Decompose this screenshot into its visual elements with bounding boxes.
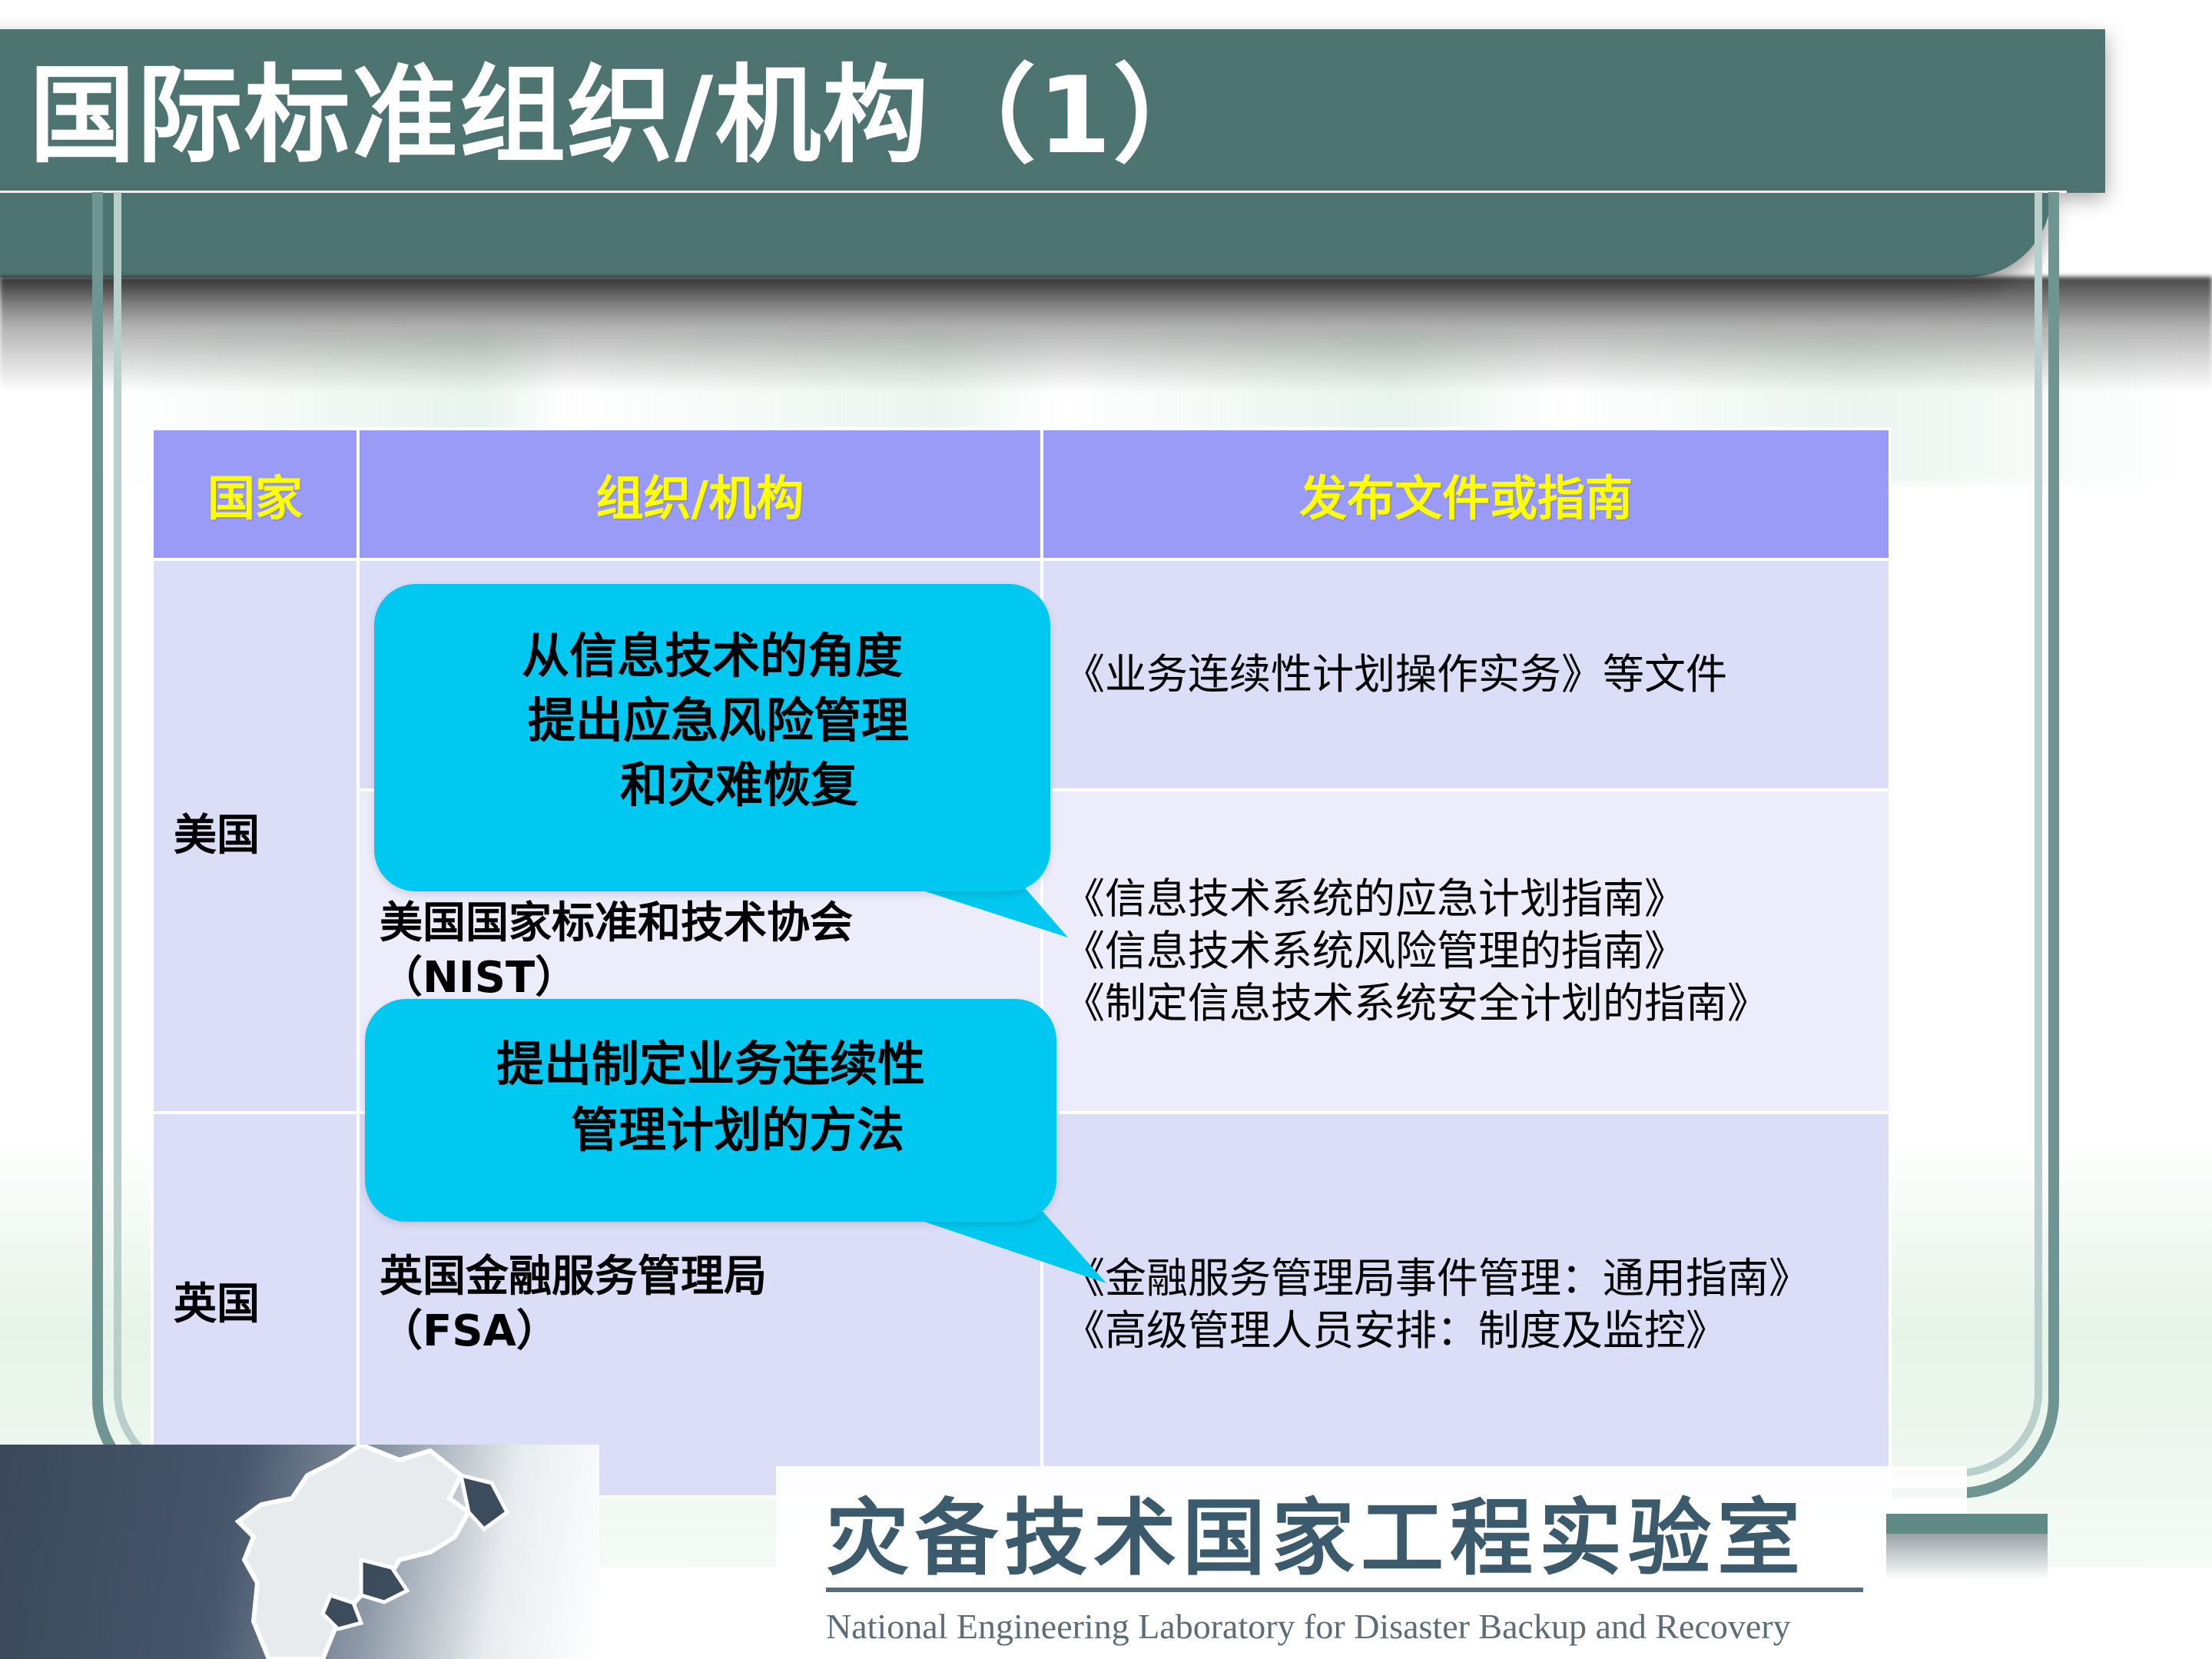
east-asia-map-graphic	[0, 1445, 599, 1659]
table-header-row: 国家 组织/机构 发布文件或指南	[152, 429, 1890, 559]
callout-line: 从信息技术的角度	[374, 624, 1050, 688]
footer-logo-rule	[826, 1588, 1863, 1592]
callout-nist[interactable]: 从信息技术的角度 提出应急风险管理 和灾难恢复	[374, 584, 1050, 891]
footer-logo-cn: 灾备技术国家工程实验室	[826, 1472, 1902, 1591]
callout-line: 提出应急风险管理	[374, 688, 1050, 753]
page-title: 国际标准组织/机构（1）	[29, 45, 1873, 187]
callout-line: 和灾难恢复	[374, 753, 1050, 818]
organization-line-2: （FSA）	[380, 1305, 1020, 1359]
document-line: 《金融服务管理局事件管理：通用指南》	[1063, 1253, 1869, 1305]
organization-line-1: 美国国家标准和技术协会	[380, 897, 1020, 951]
footer-teal-mark	[1886, 1514, 2048, 1534]
cell-country-us: 美国	[152, 559, 358, 1113]
cell-documents-isaca: 《业务连续性计划操作实务》等文件	[1042, 559, 1890, 790]
footer-grey-mark	[1886, 1534, 2048, 1580]
callout-fsa[interactable]: 提出制定业务连续性 管理计划的方法	[365, 999, 1056, 1222]
organization-line-1: 英国金融服务管理局	[380, 1250, 1020, 1305]
callout-line: 管理计划的方法	[365, 1097, 1056, 1163]
callout-line: 提出制定业务连续性	[365, 1031, 1056, 1097]
document-line: 《业务连续性计划操作实务》等文件	[1063, 649, 1869, 701]
cell-country-uk: 英国	[152, 1113, 358, 1497]
column-header-documents: 发布文件或指南	[1042, 429, 1890, 559]
cell-documents-fsa: 《金融服务管理局事件管理：通用指南》 《高级管理人员安排：制度及监控》	[1042, 1113, 1890, 1497]
cell-documents-nist: 《信息技术系统的应急计划指南》 《信息技术系统风险管理的指南》 《制定信息技术系…	[1042, 790, 1890, 1113]
document-line: 《信息技术系统的应急计划指南》	[1063, 873, 1869, 925]
footer-logo-en: National Engineering Laboratory for Disa…	[826, 1606, 1978, 1647]
document-line: 《制定信息技术系统安全计划的指南》	[1063, 977, 1869, 1030]
column-header-organization: 组织/机构	[358, 429, 1042, 559]
organization-line-2: （NIST）	[380, 951, 1020, 1006]
document-line: 《信息技术系统风险管理的指南》	[1063, 925, 1869, 977]
document-line: 《高级管理人员安排：制度及监控》	[1063, 1305, 1869, 1357]
column-header-country: 国家	[152, 429, 358, 559]
map-silhouette-icon	[0, 1445, 599, 1659]
